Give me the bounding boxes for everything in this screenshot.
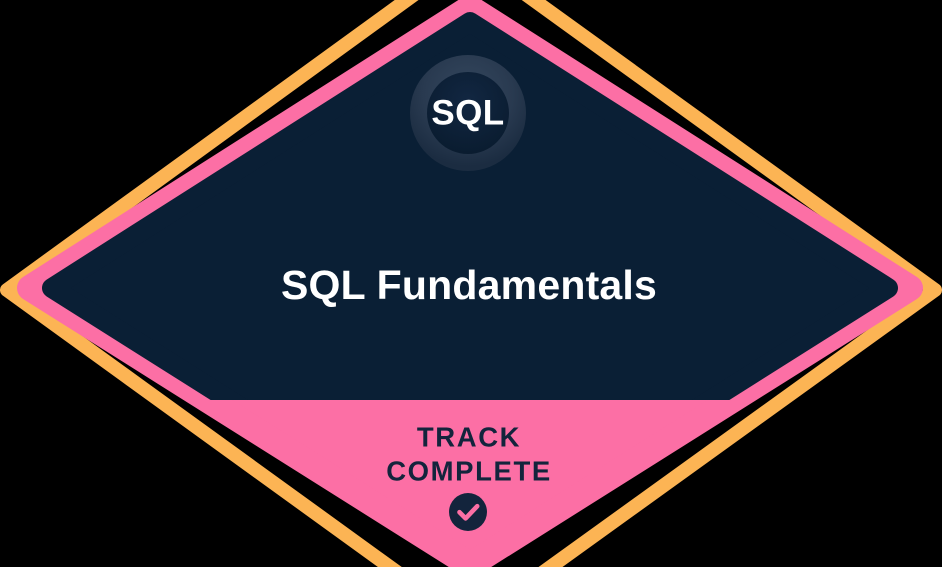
badge-artwork: SQL SQL Fundamentals TRACK COMPLETE bbox=[0, 0, 942, 567]
check-mark-circle bbox=[449, 493, 487, 531]
status-label-line-1: TRACK bbox=[417, 422, 521, 453]
check-mark-icon bbox=[449, 493, 487, 531]
status-label-line-2: COMPLETE bbox=[386, 456, 552, 487]
track-title: SQL Fundamentals bbox=[281, 262, 657, 308]
sql-chip-label: SQL bbox=[431, 94, 504, 133]
track-completion-badge: SQL SQL Fundamentals TRACK COMPLETE bbox=[0, 0, 942, 567]
sql-chip: SQL bbox=[410, 55, 526, 171]
